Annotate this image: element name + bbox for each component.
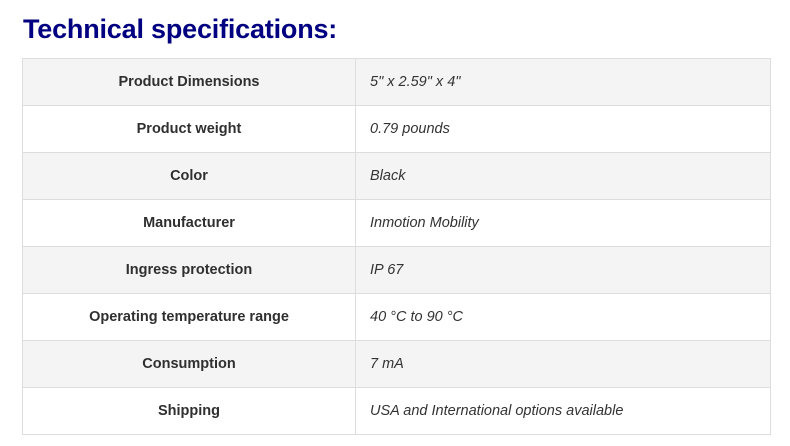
- specifications-page: Technical specifications: Product Dimens…: [0, 0, 790, 446]
- spec-value-color: Black: [356, 153, 771, 200]
- table-row: Product Dimensions 5" x 2.59" x 4": [23, 59, 771, 106]
- table-row: Consumption 7 mA: [23, 341, 771, 388]
- specifications-table-body: Product Dimensions 5" x 2.59" x 4" Produ…: [23, 59, 771, 435]
- spec-value-consumption: 7 mA: [356, 341, 771, 388]
- spec-label-product-weight: Product weight: [23, 106, 356, 153]
- spec-label-ingress-protection: Ingress protection: [23, 247, 356, 294]
- spec-label-color: Color: [23, 153, 356, 200]
- table-row: Color Black: [23, 153, 771, 200]
- table-row: Manufacturer Inmotion Mobility: [23, 200, 771, 247]
- spec-label-operating-temperature-range: Operating temperature range: [23, 294, 356, 341]
- spec-label-manufacturer: Manufacturer: [23, 200, 356, 247]
- spec-label-shipping: Shipping: [23, 388, 356, 435]
- spec-value-product-dimensions: 5" x 2.59" x 4": [356, 59, 771, 106]
- table-row: Shipping USA and International options a…: [23, 388, 771, 435]
- spec-value-ingress-protection: IP 67: [356, 247, 771, 294]
- specifications-table: Product Dimensions 5" x 2.59" x 4" Produ…: [22, 58, 771, 435]
- table-row: Operating temperature range 40 °C to 90 …: [23, 294, 771, 341]
- spec-value-product-weight: 0.79 pounds: [356, 106, 771, 153]
- spec-label-consumption: Consumption: [23, 341, 356, 388]
- spec-value-shipping: USA and International options available: [356, 388, 771, 435]
- spec-label-product-dimensions: Product Dimensions: [23, 59, 356, 106]
- table-row: Product weight 0.79 pounds: [23, 106, 771, 153]
- spec-value-operating-temperature-range: 40 °C to 90 °C: [356, 294, 771, 341]
- page-title: Technical specifications:: [23, 13, 337, 45]
- table-row: Ingress protection IP 67: [23, 247, 771, 294]
- specifications-table-container: Product Dimensions 5" x 2.59" x 4" Produ…: [22, 58, 770, 435]
- spec-value-manufacturer: Inmotion Mobility: [356, 200, 771, 247]
